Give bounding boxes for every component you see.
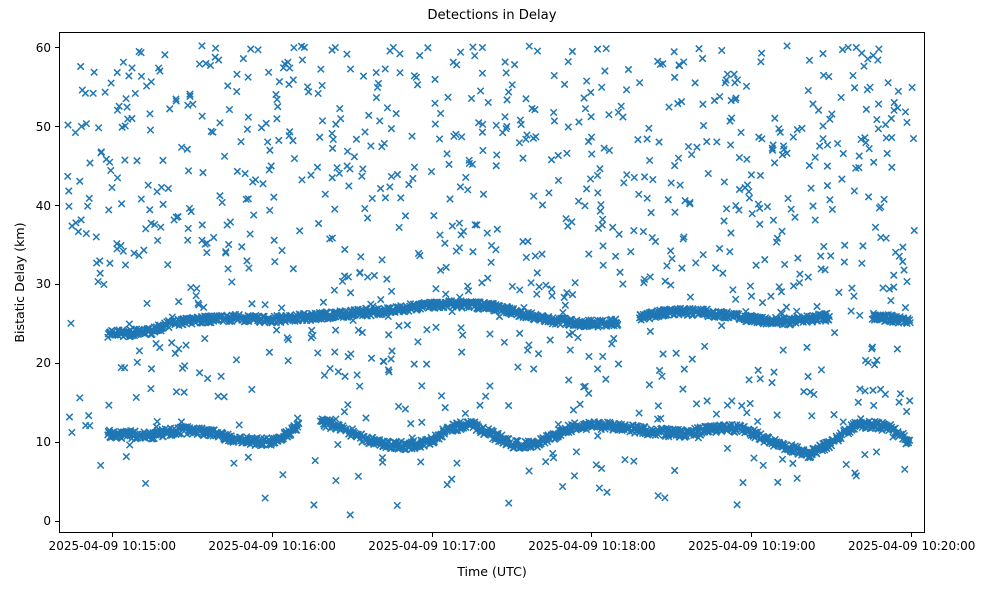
x-tick-label: 2025-04-09 10:19:00 xyxy=(688,540,815,552)
x-tick-label: 2025-04-09 10:17:00 xyxy=(368,540,495,552)
x-tick-label: 2025-04-09 10:18:00 xyxy=(528,540,655,552)
plot-area xyxy=(59,32,925,533)
x-tick-mark xyxy=(591,533,592,537)
x-axis-label: Time (UTC) xyxy=(59,564,925,579)
x-tick-mark xyxy=(112,533,113,537)
matplotlib-figure: Detections in Delay Bistatic Delay (km) … xyxy=(0,0,987,590)
scatter-layer xyxy=(60,33,924,532)
x-tick-mark xyxy=(272,533,273,537)
x-tick-mark xyxy=(751,533,752,537)
x-tick-mark xyxy=(911,533,912,537)
x-tick-mark xyxy=(432,533,433,537)
x-tick-label: 2025-04-09 10:20:00 xyxy=(848,540,975,552)
x-tick-label: 2025-04-09 10:15:00 xyxy=(49,540,176,552)
x-tick-label: 2025-04-09 10:16:00 xyxy=(208,540,335,552)
